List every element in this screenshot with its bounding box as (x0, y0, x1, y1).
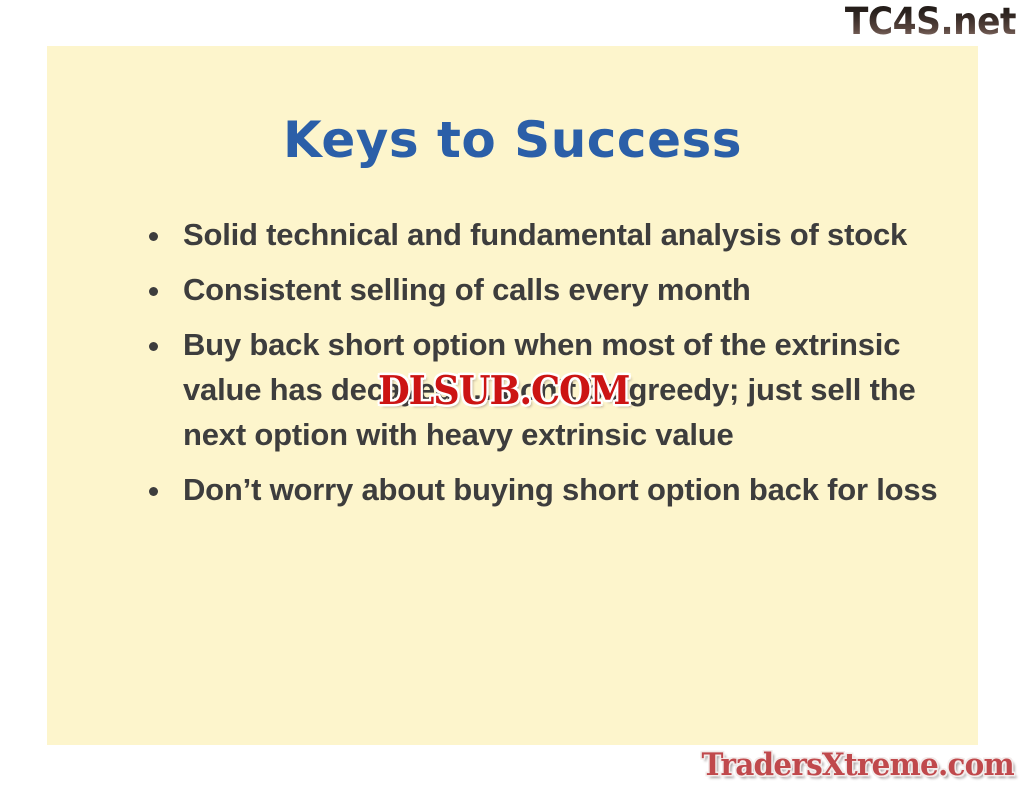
bullet-dot-icon (149, 287, 158, 296)
bullet-dot-icon (149, 342, 158, 351)
bullet-dot-icon (149, 232, 158, 241)
bullet-list: Solid technical and fundamental analysis… (96, 212, 951, 522)
list-item-text: Don’t worry about buying short option ba… (183, 467, 951, 512)
bullet-dot-icon (149, 487, 158, 496)
list-item: Don’t worry about buying short option ba… (96, 467, 951, 512)
tc4s-logo: TC4S.net (845, 1, 1016, 43)
dlsub-watermark: DLSUB.COM (378, 369, 629, 413)
slide-page: Keys to Success Solid technical and fund… (0, 0, 1024, 791)
list-item: Consistent selling of calls every month (96, 267, 951, 312)
tradersxtreme-logo: TradersXtreme.com (702, 747, 1014, 783)
list-item-text: Consistent selling of calls every month (183, 267, 951, 312)
list-item: Solid technical and fundamental analysis… (96, 212, 951, 257)
list-item-text: Solid technical and fundamental analysis… (183, 212, 951, 257)
page-title: Keys to Success (47, 114, 978, 167)
